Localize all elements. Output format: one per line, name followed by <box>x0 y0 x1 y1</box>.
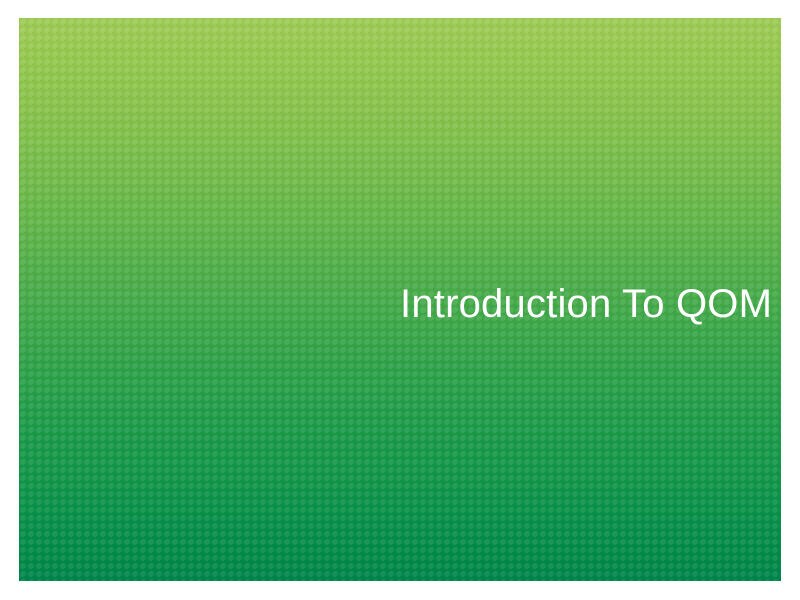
slide-title: Introduction To QOM <box>400 281 772 327</box>
slide-canvas: Introduction To QOM <box>0 0 800 600</box>
slide-background: Introduction To QOM <box>19 18 781 581</box>
title-placeholder[interactable]: Introduction To QOM <box>400 276 760 332</box>
